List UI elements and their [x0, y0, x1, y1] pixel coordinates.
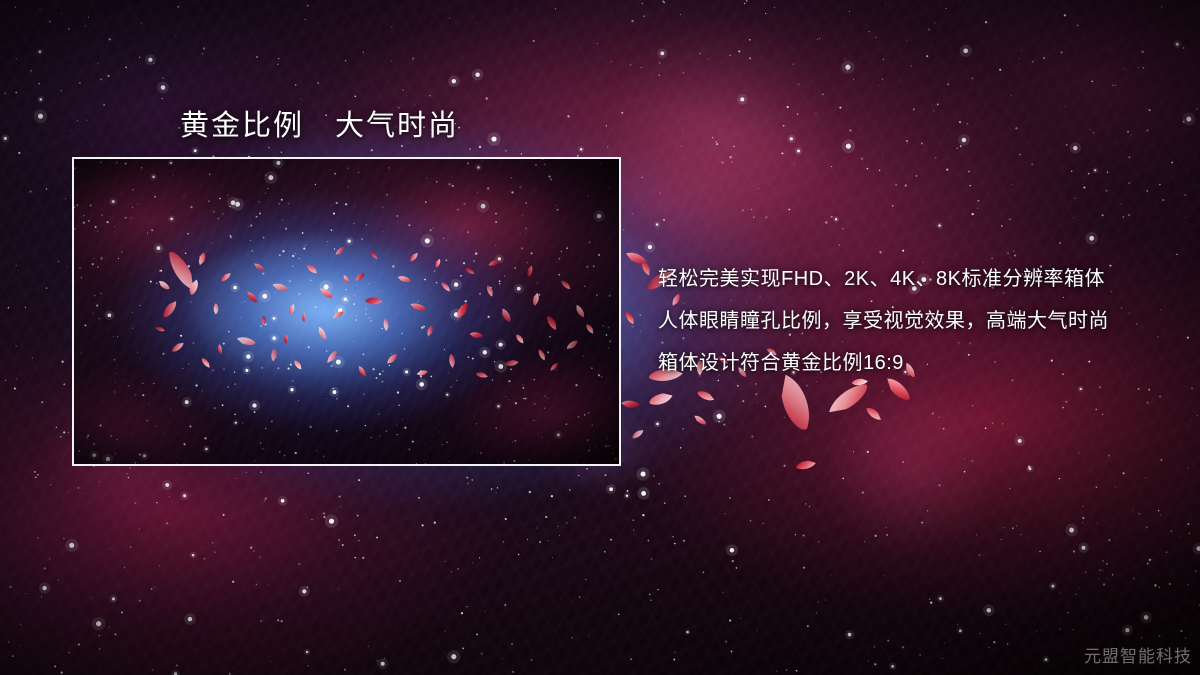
slide-title: 黄金比例 大气时尚 [180, 102, 459, 144]
frame-vignette [74, 159, 619, 464]
body-line-1: 轻松完美实现FHD、2K、4K、8K标准分辨率箱体 [658, 258, 1158, 300]
slide-body-text: 轻松完美实现FHD、2K、4K、8K标准分辨率箱体 人体眼睛瞳孔比例，享受视觉效… [658, 258, 1158, 384]
presentation-slide: 黄金比例 大气时尚 轻松完美实现FHD、2K、4K、8K标准分辨率箱体 人体眼睛… [0, 0, 1200, 675]
body-line-3: 箱体设计符合黄金比例16:9 [658, 342, 1158, 384]
image-frame-16-9 [72, 157, 621, 466]
body-line-2: 人体眼睛瞳孔比例，享受视觉效果，高端大气时尚 [658, 300, 1158, 342]
company-watermark: 元盟智能科技 [1084, 642, 1192, 667]
